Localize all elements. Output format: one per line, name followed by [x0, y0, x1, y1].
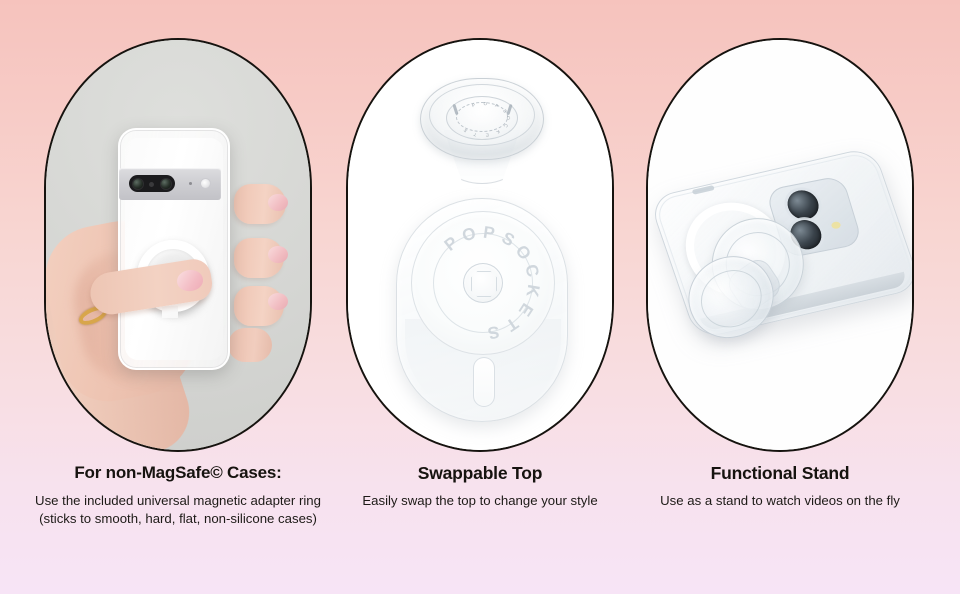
feature-caption-2: Swappable Top Easily swap the top to cha…: [320, 462, 640, 510]
product-illustration-functional-stand: [648, 40, 912, 450]
product-illustration-hand-with-phone: G: [46, 40, 310, 450]
wordmark-letter: O: [460, 223, 480, 246]
adapter-ring-gap: [162, 306, 178, 318]
camera-lens-ultrawide-icon: [161, 179, 171, 189]
wordmark-letter: P: [441, 232, 464, 256]
feature-caption-3: Functional Stand Use as a stand to watch…: [620, 462, 940, 510]
hand-finger-pinky: [228, 328, 272, 362]
feature-body-1: Use the included universal magnetic adap…: [28, 492, 328, 527]
feature-column-swappable-top: POPSOCKETS POPSOCKETS Swappable Top Easi…: [320, 0, 640, 594]
phone-camera-bar: [119, 168, 221, 200]
camera-lens-wide-icon: [133, 179, 143, 189]
feature-title-1: For non-MagSafe© Cases:: [28, 462, 328, 484]
wordmark-letter: K: [521, 283, 543, 301]
clear-case-phone: G: [118, 128, 230, 370]
popsocket-base-pill-slot: [473, 357, 495, 407]
top-emboss-letter: E: [485, 132, 489, 137]
product-image-frame-3: [646, 38, 914, 452]
camera-flash-icon: [201, 179, 210, 188]
product-image-frame-1: G: [44, 38, 312, 452]
wordmark-letter: S: [484, 321, 501, 343]
feature-board: G For non-MagSafe© Cases: Use the includ…: [0, 0, 960, 594]
camera-island: [129, 175, 175, 192]
wordmark-letter: T: [500, 313, 521, 337]
product-image-frame-2: POPSOCKETS POPSOCKETS: [346, 38, 614, 452]
wordmark-letter: O: [511, 242, 536, 266]
top-emboss-letter: O: [483, 101, 487, 106]
feature-title-2: Swappable Top: [330, 462, 630, 484]
feature-body-3: Use as a stand to watch videos on the fl…: [630, 492, 930, 510]
propped-camera-flash-icon: [831, 221, 842, 229]
popsocket-top-embossed-text: POPSOCKETS: [456, 102, 508, 132]
camera-sensor-icon: [149, 182, 154, 187]
feature-column-non-magsafe-cases: G For non-MagSafe© Cases: Use the includ…: [18, 0, 338, 594]
feature-body-2: Easily swap the top to change your style: [330, 492, 630, 510]
wordmark-letter: C: [520, 263, 543, 281]
finger-nail-index: [268, 194, 288, 211]
popsocket-swappable-top: POPSOCKETS: [420, 78, 544, 184]
top-emboss-letter: P: [471, 102, 476, 108]
finger-nail-middle: [268, 246, 288, 263]
popsocket-base-hub: [463, 263, 503, 303]
wordmark-letter: P: [482, 223, 498, 245]
feature-column-functional-stand: Functional Stand Use as a stand to watch…: [620, 0, 940, 594]
camera-microphone-icon: [189, 182, 192, 185]
popsocket-magsafe-base: POPSOCKETS: [396, 198, 568, 422]
top-emboss-letter: O: [506, 116, 511, 120]
feature-title-3: Functional Stand: [630, 462, 930, 484]
product-illustration-swappable-top: POPSOCKETS POPSOCKETS: [348, 40, 612, 450]
feature-caption-1: For non-MagSafe© Cases: Use the included…: [18, 462, 338, 527]
top-emboss-letter: P: [494, 103, 500, 109]
finger-nail-ring: [268, 293, 288, 310]
wordmark-letter: E: [513, 299, 537, 321]
